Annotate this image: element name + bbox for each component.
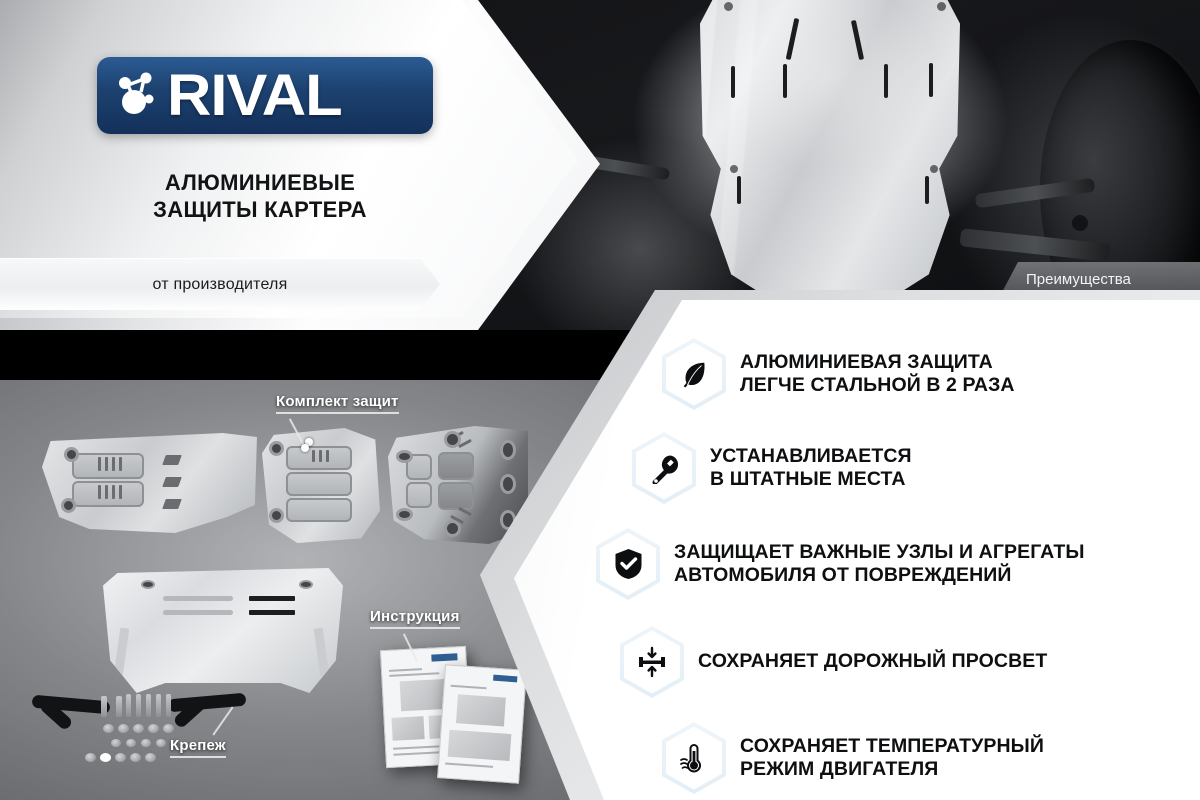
callout-kit-label: Комплект защит — [276, 393, 399, 410]
feature-text: СОХРАНЯЕТ ДОРОЖНЫЙ ПРОСВЕТ — [698, 650, 1047, 673]
skid-plate-vent — [929, 63, 933, 97]
molecule-icon — [111, 67, 161, 124]
skid-plate-3 — [388, 426, 528, 544]
skid-plate-vent — [737, 176, 741, 204]
mount-hole — [1072, 215, 1088, 231]
skid-plate-vent — [925, 176, 929, 204]
callout-instruction: Инструкция — [370, 608, 460, 629]
aluminium-skid-plate — [700, 0, 960, 314]
mount-hole — [930, 165, 938, 173]
skid-plate-vent — [884, 64, 888, 98]
skid-plate-main — [103, 568, 343, 693]
skid-plate-2 — [262, 428, 380, 543]
mount-hole — [724, 2, 733, 11]
rival-logo: RIVAL — [97, 57, 433, 134]
subtitle-text: от производителя — [153, 276, 288, 294]
feature-item[interactable]: АЛЮМИНИЕВАЯ ЗАЩИТА ЛЕГЧЕ СТАЛЬНОЙ В 2 РА… — [662, 338, 1190, 410]
skid-plate-1 — [42, 433, 257, 533]
skid-plate-vent — [731, 66, 735, 98]
ground-clearance-icon — [620, 626, 684, 698]
wrench-icon — [632, 432, 696, 504]
headline-line-2: ЗАЩИТЫ КАРТЕРА — [80, 197, 440, 224]
feature-text: АЛЮМИНИЕВАЯ ЗАЩИТА ЛЕГЧЕ СТАЛЬНОЙ В 2 РА… — [740, 351, 1015, 398]
callout-kit: Комплект защит — [276, 393, 399, 414]
subtitle-band: от производителя — [0, 258, 440, 311]
callout-instruction-label: Инструкция — [370, 608, 460, 625]
promo-banner: RIVAL АЛЮМИНИЕВЫЕ ЗАЩИТЫ КАРТЕРА от прои… — [0, 0, 1200, 800]
callout-underline — [276, 412, 399, 414]
feature-text: ЗАЩИЩАЕТ ВАЖНЫЕ УЗЛЫ И АГРЕГАТЫ АВТОМОБИ… — [674, 541, 1085, 588]
mount-hole — [937, 2, 946, 11]
mount-hole — [730, 165, 738, 173]
callout-underline — [370, 627, 460, 629]
callout-hardware-label: Крепеж — [170, 737, 226, 754]
black-divider — [0, 330, 640, 382]
headline-line-1: АЛЮМИНИЕВЫЕ — [80, 170, 440, 197]
feature-item[interactable]: ЗАЩИЩАЕТ ВАЖНЫЕ УЗЛЫ И АГРЕГАТЫ АВТОМОБИ… — [596, 528, 1190, 600]
page-title: АЛЮМИНИЕВЫЕ ЗАЩИТЫ КАРТЕРА — [80, 170, 440, 224]
callout-underline — [170, 756, 226, 758]
instruction-sheet-2 — [437, 664, 527, 783]
thermometer-icon — [662, 722, 726, 794]
advantages-tab-label: Преимущества — [1026, 271, 1131, 288]
feature-item[interactable]: СОХРАНЯЕТ ТЕМПЕРАТУРНЫЙ РЕЖИМ ДВИГАТЕЛЯ — [662, 722, 1190, 794]
callout-hardware: Крепеж — [170, 737, 226, 758]
features-list: АЛЮМИНИЕВАЯ ЗАЩИТА ЛЕГЧЕ СТАЛЬНОЙ В 2 РА… — [620, 338, 1190, 798]
feature-text: СОХРАНЯЕТ ТЕМПЕРАТУРНЫЙ РЕЖИМ ДВИГАТЕЛЯ — [740, 735, 1044, 782]
feature-item[interactable]: СОХРАНЯЕТ ДОРОЖНЫЙ ПРОСВЕТ — [620, 626, 1190, 698]
skid-plate-vent — [783, 64, 787, 98]
leaf-icon — [662, 338, 726, 410]
logo-wordmark: RIVAL — [167, 67, 342, 125]
callout-kit-dot — [301, 444, 309, 452]
feature-text: УСТАНАВЛИВАЕТСЯ В ШТАТНЫЕ МЕСТА — [710, 445, 912, 492]
shield-check-icon — [596, 528, 660, 600]
feature-item[interactable]: УСТАНАВЛИВАЕТСЯ В ШТАТНЫЕ МЕСТА — [632, 432, 1190, 504]
mount-bracket-right — [168, 693, 247, 713]
